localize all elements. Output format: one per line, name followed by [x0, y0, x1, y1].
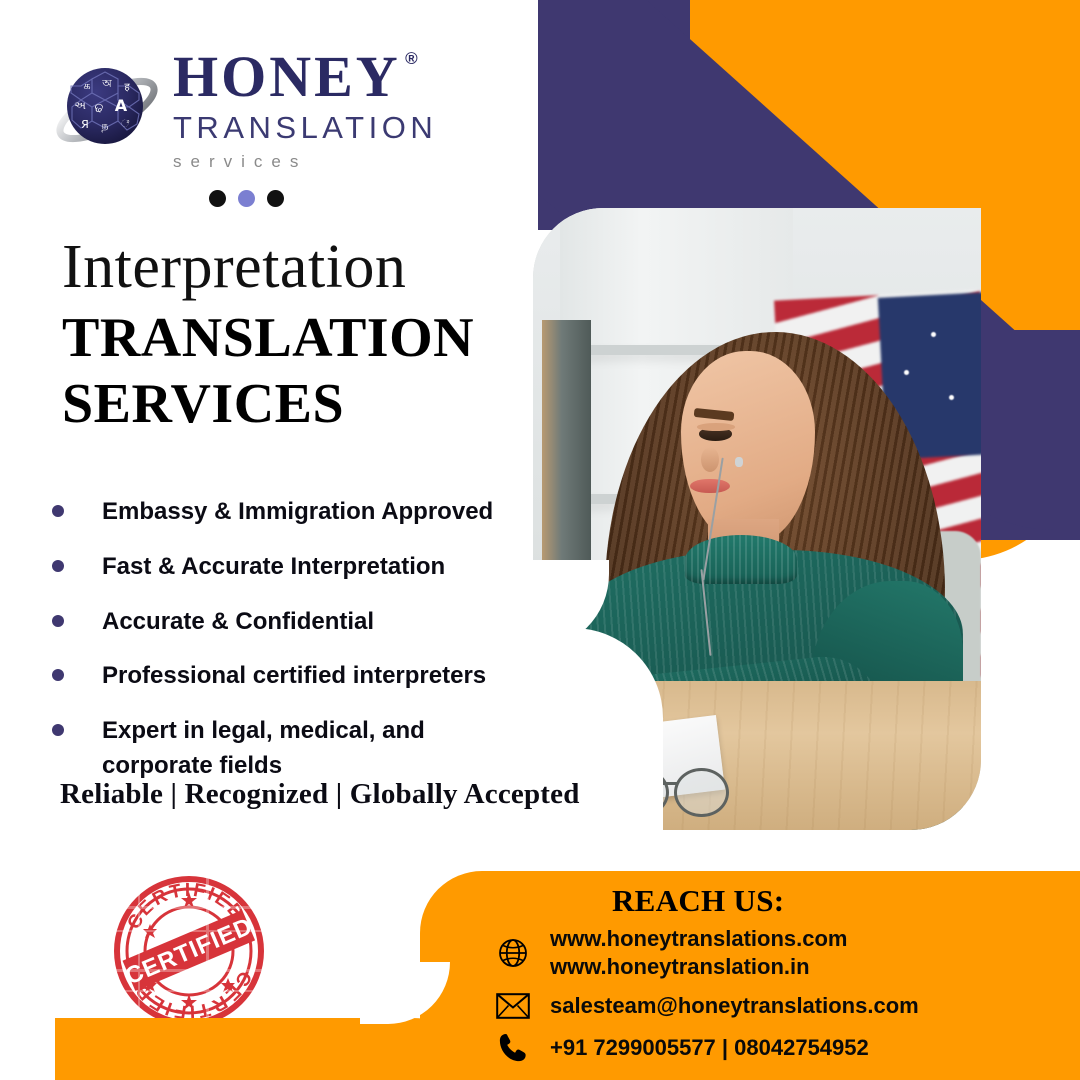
brand-logo[interactable]: க অ ह અ ଢ A Я ந ೆ HONEY ® TRANSLATION se…: [55, 48, 415, 178]
globe-languages-icon: க অ ह અ ଢ A Я ந ೆ: [55, 56, 159, 160]
contact-row-phone[interactable]: +91 7299005577 | 08042754952: [492, 1032, 1072, 1064]
list-item: Professional certified interpreters: [52, 659, 522, 694]
list-item: Fast & Accurate Interpretation: [52, 550, 522, 585]
list-item-label: Embassy & Immigration Approved: [102, 495, 493, 530]
photo-door-panel: [542, 320, 591, 594]
list-item: Embassy & Immigration Approved: [52, 495, 522, 530]
website-line-2: www.honeytranslation.in: [550, 953, 847, 981]
logo-name-primary: HONEY ®: [173, 48, 401, 106]
phone-icon: [492, 1032, 534, 1064]
list-item: Accurate & Confidential: [52, 605, 522, 640]
svg-text:க: க: [83, 79, 90, 92]
bullet-dot-icon: [52, 505, 64, 517]
svg-text:અ: અ: [74, 99, 86, 112]
tagline: Reliable | Recognized | Globally Accepte…: [60, 778, 580, 811]
svg-text:ଢ: ଢ: [95, 101, 104, 116]
globe-icon: [492, 937, 534, 969]
envelope-icon: [492, 993, 534, 1019]
svg-text:ह: ह: [124, 82, 130, 93]
earbud-icon: [735, 457, 743, 467]
logo-honey-text: HONEY: [173, 44, 401, 109]
decorative-dots: [209, 190, 284, 207]
svg-text:Я: Я: [81, 118, 89, 131]
svg-text:অ: অ: [101, 77, 112, 90]
svg-text:ೆ: ೆ: [121, 119, 130, 130]
list-item-label: Fast & Accurate Interpretation: [102, 550, 445, 585]
feature-list: Embassy & Immigration Approved Fast & Ac…: [52, 495, 522, 804]
contact-list: www.honeytranslations.com www.honeytrans…: [492, 925, 1072, 1072]
footer-title: REACH US:: [612, 883, 784, 919]
list-item-label: Professional certified interpreters: [102, 659, 486, 694]
contact-row-email[interactable]: salesteam@honeytranslations.com: [492, 992, 1072, 1020]
bullet-dot-icon: [52, 669, 64, 681]
list-item-label: Expert in legal, medical, and corporate …: [102, 714, 452, 784]
person-eyelid: [697, 423, 735, 430]
dot-black: [267, 190, 284, 207]
contact-row-website[interactable]: www.honeytranslations.com www.honeytrans…: [492, 925, 1072, 980]
glasses-lens: [674, 768, 729, 818]
dot-black: [209, 190, 226, 207]
logo-name-secondary: TRANSLATION: [173, 110, 473, 146]
svg-text:ந: ந: [101, 119, 108, 132]
contact-website-text: www.honeytranslations.com www.honeytrans…: [550, 925, 847, 980]
svg-text:A: A: [115, 96, 128, 115]
registered-mark-icon: ®: [405, 50, 421, 67]
list-item-label: Accurate & Confidential: [102, 605, 374, 640]
certified-stamp: CERTIFIED CERTIFIED CERTIFIED: [110, 872, 268, 1030]
headline-main: TRANSLATION SERVICES: [62, 305, 474, 437]
headline-line-2: SERVICES: [62, 371, 474, 437]
list-item: Expert in legal, medical, and corporate …: [52, 714, 522, 784]
poster-canvas: க অ ह અ ଢ A Я ந ೆ HONEY ® TRANSLATION se…: [0, 0, 1080, 1080]
bullet-dot-icon: [52, 724, 64, 736]
website-line-1: www.honeytranslations.com: [550, 926, 847, 951]
headline-script: Interpretation: [62, 236, 406, 298]
bullet-dot-icon: [52, 615, 64, 627]
footer-tail-shape: [55, 1018, 475, 1080]
logo-name-tertiary: services: [173, 152, 473, 172]
contact-phone-text: +91 7299005577 | 08042754952: [550, 1034, 869, 1062]
headline-line-1: TRANSLATION: [62, 305, 474, 371]
dot-periwinkle: [238, 190, 255, 207]
flag-star: [949, 395, 954, 400]
bullet-dot-icon: [52, 560, 64, 572]
contact-email-text: salesteam@honeytranslations.com: [550, 992, 919, 1020]
